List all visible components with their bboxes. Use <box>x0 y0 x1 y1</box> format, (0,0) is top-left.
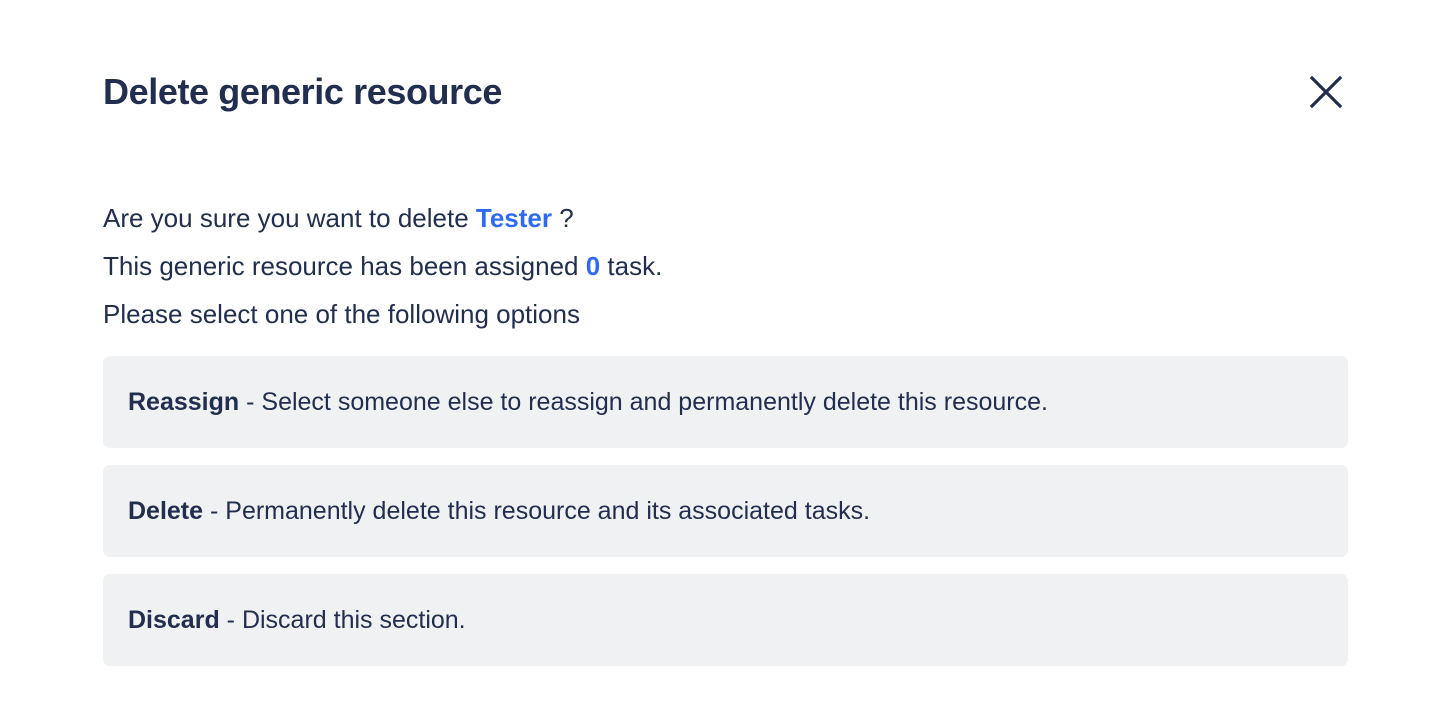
option-term: Reassign <box>128 388 239 416</box>
option-separator: - <box>203 497 225 525</box>
option-term: Delete <box>128 497 203 525</box>
option-text: Delete - Permanently delete this resourc… <box>128 495 870 527</box>
confirm-question-prefix: Are you sure you want to delete <box>103 203 476 233</box>
select-option-line: Please select one of the following optio… <box>103 290 1348 338</box>
task-count-line: This generic resource has been assigned … <box>103 242 1348 290</box>
option-text: Discard - Discard this section. <box>128 604 466 636</box>
confirm-question-line: Are you sure you want to delete Tester ? <box>103 194 1348 242</box>
task-count-suffix: task. <box>600 251 662 281</box>
resource-name: Tester <box>476 203 552 233</box>
option-list: Reassign - Select someone else to reassi… <box>103 356 1348 666</box>
confirm-question-suffix: ? <box>552 203 574 233</box>
option-discard[interactable]: Discard - Discard this section. <box>103 574 1348 666</box>
option-text: Reassign - Select someone else to reassi… <box>128 386 1048 418</box>
option-separator: - <box>239 388 261 416</box>
option-separator: - <box>220 606 242 634</box>
task-count-value: 0 <box>586 251 600 281</box>
option-description: Select someone else to reassign and perm… <box>261 388 1048 416</box>
option-term: Discard <box>128 606 220 634</box>
task-count-prefix: This generic resource has been assigned <box>103 251 586 281</box>
delete-generic-resource-dialog: Delete generic resource Are you sure you… <box>0 0 1430 726</box>
close-icon <box>1309 75 1343 109</box>
option-reassign[interactable]: Reassign - Select someone else to reassi… <box>103 356 1348 448</box>
option-description: Discard this section. <box>242 606 466 634</box>
option-delete[interactable]: Delete - Permanently delete this resourc… <box>103 465 1348 557</box>
dialog-header: Delete generic resource <box>103 58 1348 126</box>
page-title: Delete generic resource <box>103 58 502 126</box>
dialog-message: Are you sure you want to delete Tester ?… <box>103 194 1348 338</box>
close-button[interactable] <box>1304 70 1348 114</box>
option-description: Permanently delete this resource and its… <box>225 497 870 525</box>
